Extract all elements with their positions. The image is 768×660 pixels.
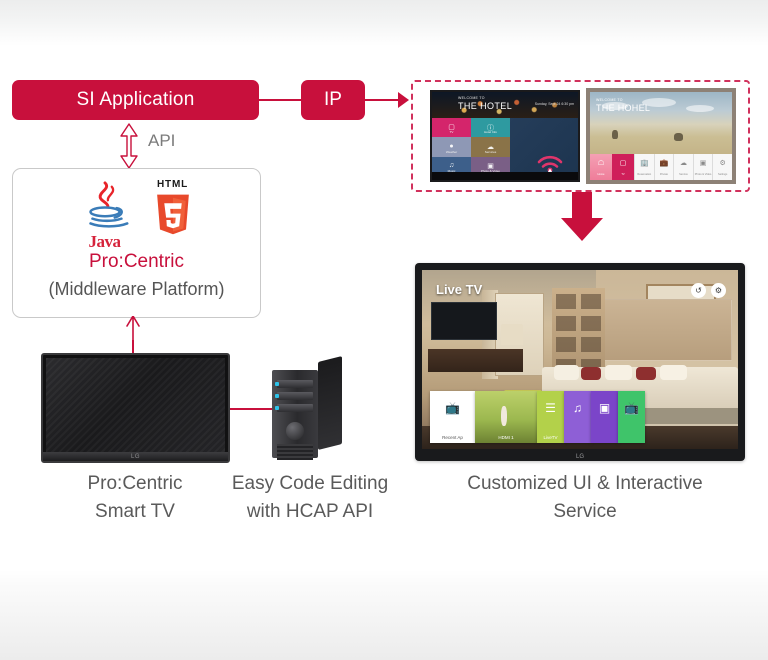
- wall-mounted-tv: [431, 302, 496, 340]
- gear-icon: ⚙: [720, 159, 726, 167]
- server-front-face: [272, 370, 318, 458]
- server-vent: [277, 444, 313, 460]
- caption-line-2: Smart TV: [45, 498, 225, 526]
- api-label: API: [148, 131, 175, 151]
- tree-shape: [612, 130, 618, 139]
- menu-item-label: Service: [674, 173, 693, 176]
- input-icon-glyph: ↺: [695, 286, 702, 295]
- recent-icon: 📺: [445, 401, 460, 415]
- tv-chin: LG: [43, 452, 228, 461]
- html5-logo-icon: HTML: [148, 179, 198, 251]
- launcher-card-music[interactable]: ♫: [564, 391, 591, 443]
- mini-tv-tile-grid: ▢ TV ⓘ Hotel Info ● Weather ☁ Services: [432, 118, 510, 176]
- arrow-head-right-icon: [398, 92, 409, 108]
- launcher-card-recent[interactable]: 📺 Recent Ap: [430, 391, 475, 443]
- middleware-platform-node: Java HTML Pro:Centric (Middleware Platfo…: [12, 168, 261, 318]
- server-side-face: [318, 356, 342, 450]
- connector-tv-to-server: [230, 408, 274, 410]
- menu-item-label: Settings: [713, 173, 732, 176]
- menu-item-label: Private: [655, 173, 674, 176]
- ip-label: IP: [324, 89, 342, 111]
- pillow: [554, 365, 579, 380]
- mini-tv-menu-screen: WELCOME TO THE HOHEL ☖ Home ▢ TV 🏢 Reser…: [586, 88, 736, 184]
- connector-si-to-ip: [259, 99, 303, 101]
- floor-lamp: [501, 324, 523, 345]
- mini-tv-clock: Sunday, Sept 24 6:30 pm: [535, 102, 574, 106]
- server-led: [275, 382, 279, 386]
- pillow: [581, 367, 601, 380]
- server-bay: [277, 380, 313, 388]
- si-application-label: SI Application: [77, 89, 195, 111]
- thumbnail-figure: [501, 406, 507, 427]
- caption-line-1: Easy Code Editing: [220, 470, 400, 498]
- launcher-card-label: HDMI 1: [475, 435, 537, 440]
- caption-easy-code-editing: Easy Code Editing with HCAP API: [220, 470, 400, 525]
- launcher-card-livetv[interactable]: ☰ LiveTV: [537, 391, 564, 443]
- home-icon: ☖: [598, 159, 604, 167]
- screen-icon: ▣: [599, 401, 610, 415]
- menu-item-label: Reservation: [635, 173, 654, 176]
- mini-tv-welcome-label: WELCOME TO: [458, 96, 485, 100]
- pro-centric-smart-tv-hardware: LG: [41, 353, 230, 463]
- desk: [428, 349, 523, 372]
- caption-line-1: Pro:Centric: [45, 470, 225, 498]
- mini-tile-label: Hotel Info: [471, 130, 510, 134]
- music-icon: ♫: [573, 401, 582, 415]
- live-tv-overlay-label: Live TV: [436, 282, 482, 297]
- server-led: [275, 406, 279, 410]
- cloud-shape: [686, 105, 714, 112]
- tv-app-icon: 📺: [624, 401, 639, 415]
- tree-shape: [674, 133, 683, 141]
- api-double-arrow-icon: [118, 122, 140, 170]
- mini-tv-body: ▢ TV ⓘ Hotel Info ● Weather ☁ Services: [432, 118, 578, 172]
- menu-item-label: Home: [590, 173, 612, 176]
- service-icon: ☁: [680, 159, 687, 167]
- mini-tile-services[interactable]: ☁ Services: [471, 137, 510, 156]
- mini-tv-welcome-label: WELCOME TO: [596, 98, 623, 102]
- arrow-down-icon: [560, 192, 604, 242]
- mini-tile-label: Weather: [432, 150, 471, 154]
- middleware-title: Pro:Centric: [13, 251, 260, 273]
- customized-ui-tv: Live TV ↺ ⚙ 📺 Recent Ap HDMI 1 ☰: [415, 263, 745, 461]
- pillow: [660, 365, 687, 380]
- tv-panel: [46, 358, 225, 452]
- launcher-card-label: Recent Ap: [430, 435, 475, 440]
- gear-icon[interactable]: ⚙: [711, 283, 726, 298]
- launcher-card-hdmi1[interactable]: HDMI 1: [475, 391, 537, 443]
- hcap-server-hardware: [272, 362, 342, 458]
- antenna-icon: ☰: [545, 401, 556, 415]
- server-power-knob: [286, 422, 304, 440]
- launcher-card-label: LiveTV: [537, 435, 564, 440]
- mini-tv-menu-bar: ☖ Home ▢ TV 🏢 Reservation 💼 Private ☁: [590, 154, 732, 180]
- menu-item-home[interactable]: ☖ Home: [590, 154, 612, 180]
- music-icon: ♫: [449, 162, 454, 169]
- pillow: [605, 365, 632, 380]
- top-gradient-band: [0, 0, 768, 46]
- mini-tile-tv[interactable]: ▢ TV: [432, 118, 471, 137]
- photo-icon: ▣: [700, 159, 707, 167]
- launcher-card-screen[interactable]: ▣: [591, 391, 618, 443]
- launcher-card-bar: 📺 Recent Ap HDMI 1 ☰ LiveTV ♫ ▣: [430, 388, 645, 443]
- mini-tv-hotel-name: THE HOHEL: [596, 103, 650, 113]
- ui-templates-panel: WELCOME TO THE HOTEL Sunday, Sept 24 6:3…: [411, 80, 750, 192]
- mini-tile-weather[interactable]: ● Weather: [432, 137, 471, 156]
- caption-line-1: Customized UI & Interactive: [425, 470, 745, 498]
- menu-item-tv[interactable]: ▢ TV: [612, 154, 634, 180]
- lg-logo: LG: [131, 454, 140, 460]
- java-logo-icon: Java: [76, 179, 134, 251]
- briefcase-icon: 💼: [660, 159, 669, 167]
- connector-tv-to-middleware: [132, 340, 134, 354]
- tv-screen: Live TV ↺ ⚙ 📺 Recent Ap HDMI 1 ☰: [422, 270, 738, 449]
- diagram-canvas: SI Application IP API Java: [0, 0, 768, 660]
- launcher-card-tv-app[interactable]: 📺: [618, 391, 645, 443]
- middleware-subtitle: (Middleware Platform): [13, 279, 260, 300]
- mini-tv-welcome-screen: WELCOME TO THE HOTEL Sunday, Sept 24 6:3…: [430, 90, 580, 182]
- bottom-gradient-band: [0, 570, 768, 660]
- caption-pro-centric-smart-tv: Pro:Centric Smart TV: [45, 470, 225, 525]
- html5-wordmark: HTML: [148, 179, 198, 190]
- ip-node: IP: [301, 80, 365, 120]
- menu-item-label: TV: [612, 173, 634, 176]
- server-led: [275, 394, 279, 398]
- mini-tile-label: Services: [471, 150, 510, 154]
- lg-logo: LG: [576, 454, 584, 460]
- mini-tile-label: TV: [432, 130, 471, 134]
- building-icon: 🏢: [640, 159, 649, 167]
- menu-item-private[interactable]: 💼 Private: [654, 154, 674, 180]
- tv-icon: ▢: [620, 159, 627, 167]
- caption-line-2: Service: [425, 498, 745, 526]
- mini-tv-hotel-name: THE HOTEL: [458, 101, 512, 111]
- caption-line-2: with HCAP API: [220, 498, 400, 526]
- gear-icon-glyph: ⚙: [715, 286, 722, 295]
- java-wordmark: Java: [76, 232, 134, 252]
- menu-item-reservation[interactable]: 🏢 Reservation: [634, 154, 654, 180]
- menu-item-service[interactable]: ☁ Service: [673, 154, 693, 180]
- server-bay: [277, 404, 313, 412]
- bed-headboard: [603, 299, 731, 362]
- pillow: [636, 367, 656, 380]
- menu-item-photo-video[interactable]: ▣ Photo & Video: [693, 154, 713, 180]
- mini-tile-hotel-info[interactable]: ⓘ Hotel Info: [471, 118, 510, 137]
- menu-item-label: Photo & Video: [694, 173, 713, 176]
- technology-logos: Java HTML: [13, 175, 260, 251]
- si-application-node: SI Application: [12, 80, 259, 120]
- mini-tv-bezel-bottom: [432, 172, 578, 180]
- caption-customized-ui: Customized UI & Interactive Service: [425, 470, 745, 525]
- input-icon[interactable]: ↺: [691, 283, 706, 298]
- server-bay: [277, 392, 313, 400]
- menu-item-settings[interactable]: ⚙ Settings: [712, 154, 732, 180]
